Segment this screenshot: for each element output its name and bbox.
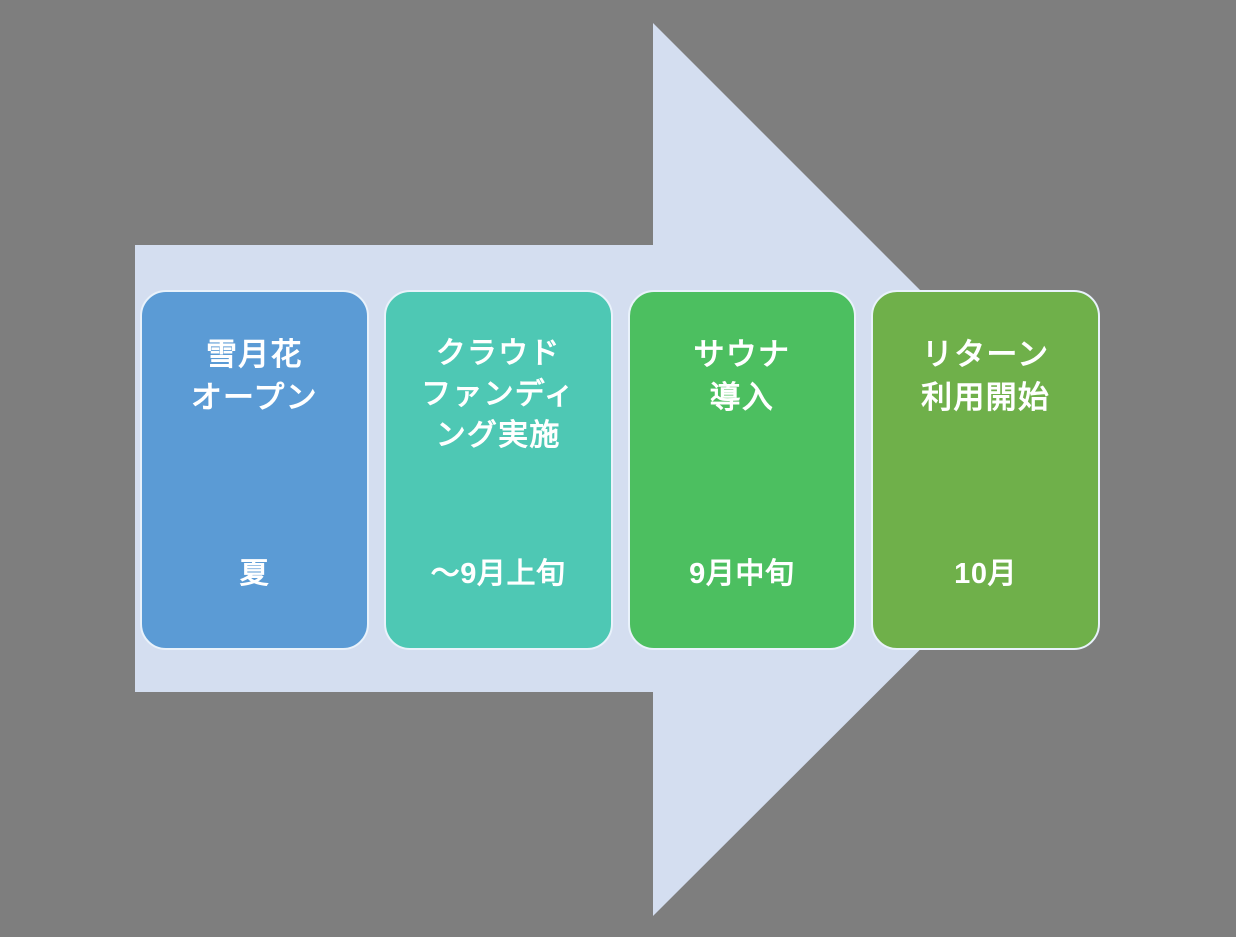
timeline-card-2[interactable]: クラウド ファンディ ング実施 〜9月上旬: [384, 290, 613, 650]
card-4-date: 10月: [873, 550, 1098, 592]
timeline-card-1[interactable]: 雪月花 オープン 夏: [140, 290, 369, 650]
card-1-title: 雪月花 オープン: [191, 334, 318, 420]
card-2-title: クラウド ファンディ ング実施: [421, 334, 575, 456]
timeline-card-row: 雪月花 オープン 夏 クラウド ファンディ ング実施 〜9月上旬 サウナ 導入 …: [140, 290, 1100, 650]
card-1-date: 夏: [142, 550, 367, 592]
timeline-card-3[interactable]: サウナ 導入 9月中旬: [628, 290, 857, 650]
card-3-date: 9月中旬: [630, 550, 855, 592]
timeline-card-4[interactable]: リターン 利用開始 10月: [871, 290, 1100, 650]
card-4-title: リターン 利用開始: [921, 334, 1050, 420]
slide-canvas: 雪月花 オープン 夏 クラウド ファンディ ング実施 〜9月上旬 サウナ 導入 …: [0, 0, 1236, 937]
card-2-date: 〜9月上旬: [386, 550, 611, 592]
card-3-title: サウナ 導入: [694, 334, 791, 420]
